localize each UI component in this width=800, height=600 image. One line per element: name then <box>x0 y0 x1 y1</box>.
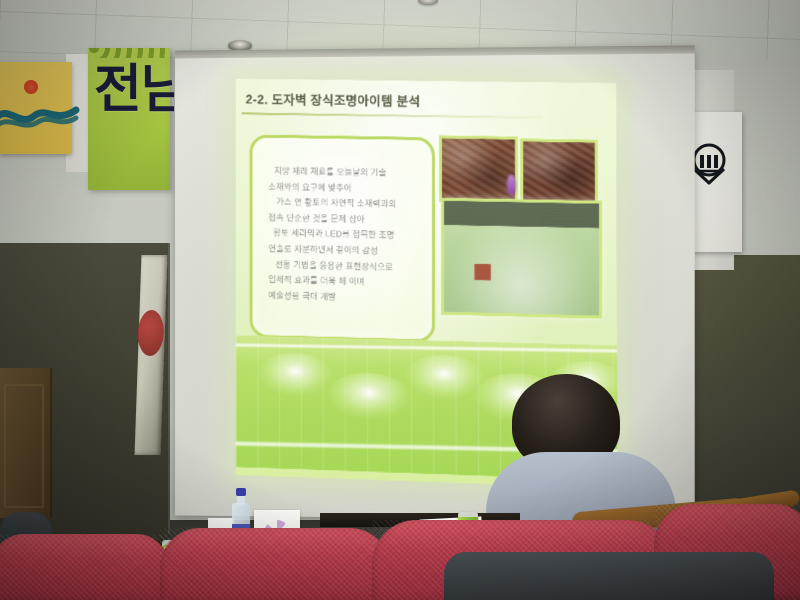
conference-room-photo: 전남 2-2. 도자벽 장식조명아이템 분석 지방 재래 재료를 오늘날의 기술 <box>0 0 800 600</box>
wooden-door[interactable] <box>0 368 52 518</box>
photo-red-swatch <box>474 264 490 281</box>
photo-texture <box>442 138 515 200</box>
photo-room-shading <box>444 201 599 316</box>
slide-title: 2-2. 도자벽 장식조명아이템 분석 <box>246 89 606 113</box>
jeonnam-text-banner: 전남 <box>88 48 170 190</box>
jeonnam-emblem-banner <box>0 62 72 154</box>
red-chair-1 <box>0 534 170 600</box>
can-top <box>458 512 478 517</box>
slide-photo-interior-room <box>441 198 602 319</box>
slide-title-rule <box>242 113 543 119</box>
dark-chair-back <box>444 552 774 600</box>
chair-fabric <box>0 534 170 600</box>
wave-icon <box>0 98 80 132</box>
banner-text: 전남 <box>94 62 174 118</box>
door-panel <box>4 384 44 508</box>
wall-seam-left <box>168 243 170 533</box>
bottle-neck <box>237 495 245 505</box>
red-chair-2 <box>160 528 390 600</box>
flag-taeguk-circle <box>137 310 165 356</box>
photo-texture <box>523 142 595 202</box>
purple-flame-accent <box>507 175 516 195</box>
slide-text-card: 지방 재래 재료를 오늘날의 기술 소재와의 요구에 맞추어 가스 연 황토의 … <box>250 134 436 342</box>
chair-fabric <box>160 528 390 600</box>
sun-icon <box>24 80 38 94</box>
bottle-cap <box>236 488 246 496</box>
slide-photo-tile-texture-2 <box>520 139 598 205</box>
banner-scallop-trim <box>88 48 170 58</box>
slide-text-line: 예술성을 극대 개발 <box>268 288 422 307</box>
slide-text-lines: 지방 재래 재료를 오늘날의 기술 소재와의 요구에 맞추어 가스 연 황토의 … <box>268 164 422 308</box>
slide-photo-tile-texture-1 <box>439 135 518 203</box>
